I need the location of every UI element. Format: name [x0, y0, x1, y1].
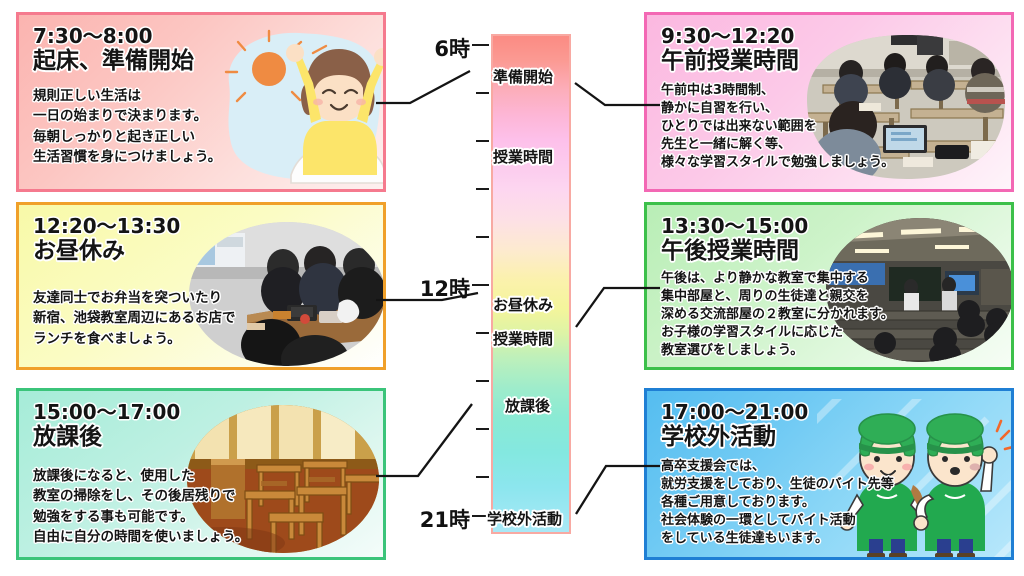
tick-minor-8	[476, 140, 489, 142]
connector-after-school	[376, 404, 472, 476]
tick-minor-15	[476, 380, 489, 382]
schedule-infographic: 7:30〜8:00 起床、準備開始 規則正しい生活は 一日の始まりで決まります。…	[0, 0, 1024, 576]
segment-label-preparation: 準備開始	[493, 66, 553, 87]
segment-label-after-school: 放課後	[505, 395, 550, 416]
segment-label-morning-class: 授業時間	[493, 146, 553, 167]
tick-minor-13	[476, 332, 489, 334]
connector-wakeup	[376, 71, 470, 103]
tick-minor-7	[476, 92, 489, 94]
hour-label-6: 6時	[398, 33, 470, 63]
segment-label-afternoon-class: 授業時間	[493, 328, 553, 349]
connector-outside-school	[576, 466, 660, 514]
tick-major-6	[472, 44, 489, 46]
connector-afternoon-class	[576, 288, 660, 327]
hour-label-21: 21時	[398, 504, 470, 534]
segment-label-lunch-break: お昼休み	[493, 294, 553, 315]
segment-label-outside-school: 学校外活動	[487, 508, 562, 529]
tick-minor-19	[476, 476, 489, 478]
tick-minor-10	[476, 236, 489, 238]
tick-minor-17	[476, 428, 489, 430]
hour-label-12: 12時	[398, 273, 470, 303]
tick-minor-9	[476, 188, 489, 190]
connector-morning-class	[575, 83, 660, 105]
tick-major-12	[472, 284, 489, 286]
